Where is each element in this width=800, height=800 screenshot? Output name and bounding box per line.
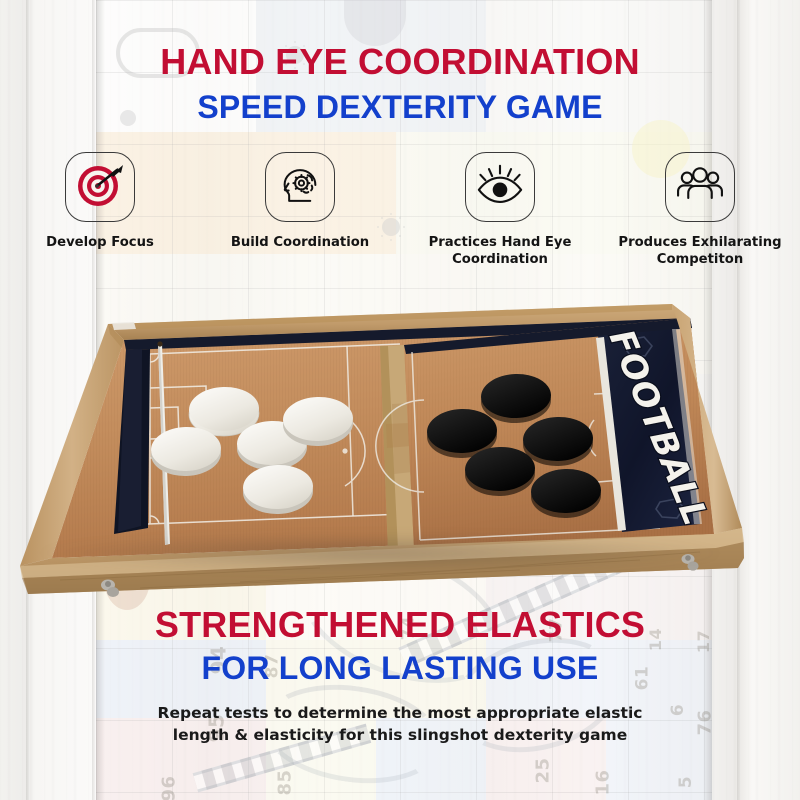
feature-benefits-row: Develop Focus Build Coordination — [0, 152, 800, 269]
collage-cell-number: 16 — [593, 769, 614, 795]
feature-label: Practices Hand Eye Coordination — [415, 235, 585, 269]
target-dartboard-icon — [75, 160, 125, 215]
footer-line-1: STRENGTHENED ELASTICS — [0, 607, 800, 643]
feature-icon-frame — [265, 152, 335, 222]
headline-line-2: SPEED DEXTERITY GAME — [0, 91, 800, 123]
feature-label: Produces Exhilarating Competiton — [615, 235, 785, 269]
head-gear-brain-icon — [276, 161, 324, 214]
footer-headline-secondary-wrapper: FOR LONG LASTING USE — [0, 652, 800, 684]
collage-cell-number: 85 — [275, 769, 296, 795]
playfield-right: FOOTBALL — [376, 318, 716, 548]
feature-item-build-coordination: Build Coordination — [200, 152, 400, 269]
feature-icon-frame — [465, 152, 535, 222]
footer-headline-primary-wrapper: STRENGTHENED ELASTICS — [0, 607, 800, 643]
headline-primary-wrapper: HAND EYE COORDINATION — [0, 44, 800, 80]
feature-item-develop-focus: Develop Focus — [0, 152, 200, 269]
product-marketing-image: 94 87 95 96 85 76 74 61 77 25 16 6 5 14 … — [0, 0, 800, 800]
eye-icon — [475, 161, 525, 214]
headline-line-1: HAND EYE COORDINATION — [0, 44, 800, 80]
feature-label: Develop Focus — [46, 235, 154, 252]
headline-secondary-wrapper: SPEED DEXTERITY GAME — [0, 91, 800, 123]
collage-cell-number: 96 — [159, 775, 180, 800]
footer-line-2: FOR LONG LASTING USE — [0, 652, 800, 684]
collage-cell-number: 25 — [533, 757, 554, 783]
group-people-icon — [675, 162, 725, 213]
feature-item-practices-hand-eye: Practices Hand Eye Coordination — [400, 152, 600, 269]
product-photo-slingshot-board: FOOTBALL — [0, 296, 800, 606]
footer-body-wrapper: Repeat tests to determine the most appro… — [0, 702, 800, 746]
feature-item-produces-competition: Produces Exhilarating Competiton — [600, 152, 800, 269]
feature-label: Build Coordination — [231, 235, 369, 252]
feature-icon-frame — [665, 152, 735, 222]
feature-icon-frame — [65, 152, 135, 222]
footer-body-line-1: Repeat tests to determine the most appro… — [0, 702, 800, 724]
product-drop-shadow — [40, 534, 720, 572]
collage-cell-number: 5 — [676, 776, 696, 788]
footer-body-line-2: length & elasticity for this slingshot d… — [0, 724, 800, 746]
